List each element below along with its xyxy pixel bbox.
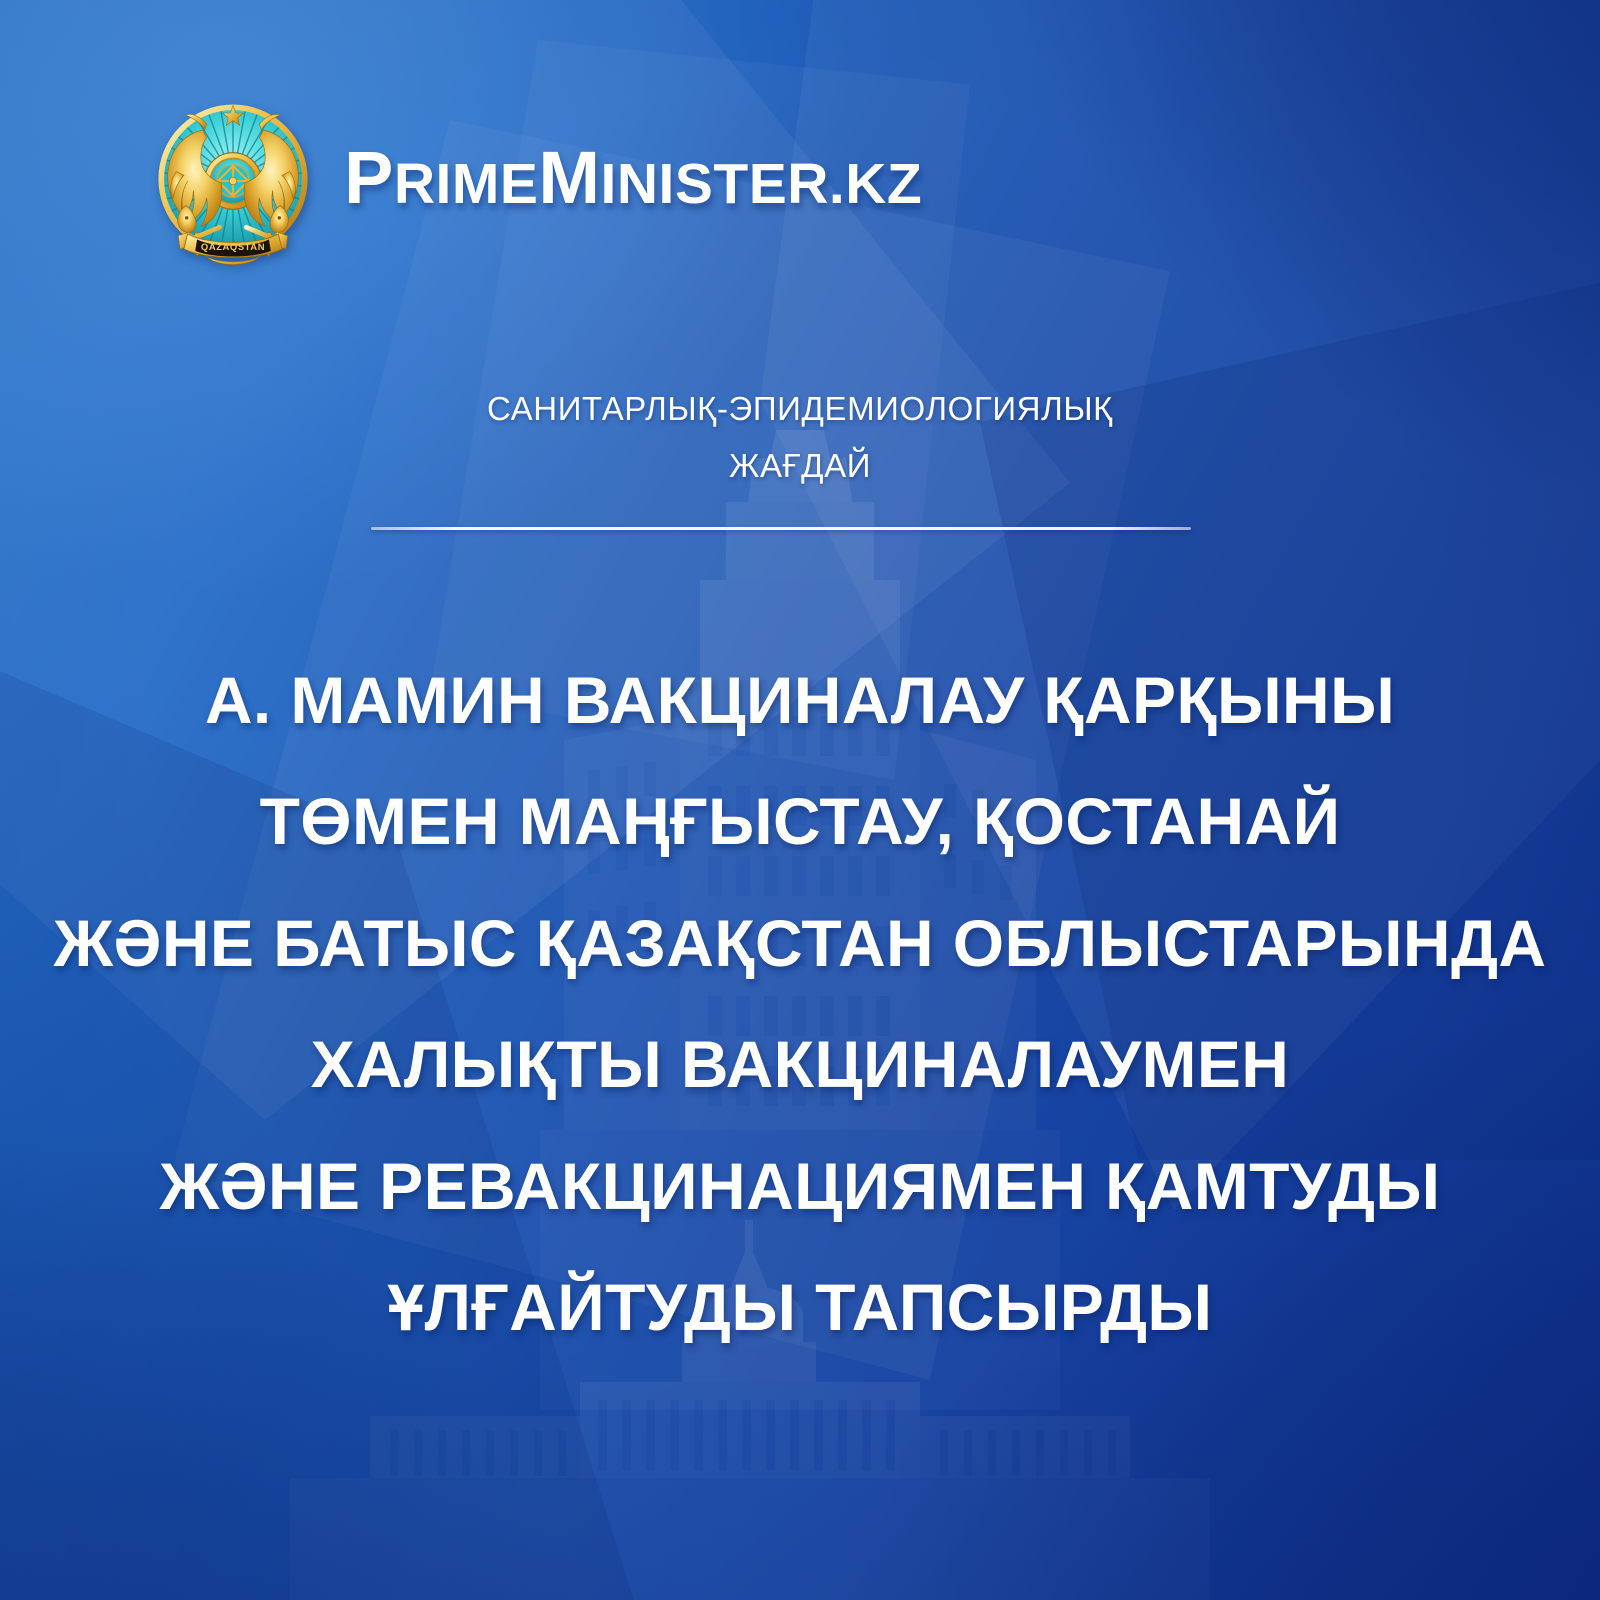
section-subtitle: САНИТАРЛЫҚ-ЭПИДЕМИОЛОГИЯЛЫҚ ЖАҒДАЙ	[0, 381, 1600, 495]
site-wordmark[interactable]: PRIMEMINISTER.KZ	[344, 141, 922, 221]
brand-lockup[interactable]: QAZAQSTAN PRIMEMINISTER.KZ	[148, 92, 922, 270]
wordmark-inister: INISTER	[601, 152, 829, 216]
emblem-ribbon-label: QAZAQSTAN	[201, 242, 265, 253]
headline-line-2: ТӨМЕН МАҢҒЫСТАУ, ҚОСТАНАЙ	[50, 761, 1550, 882]
header-divider	[371, 527, 1191, 530]
headline-line-4: ХАЛЫҚТЫ ВАКЦИНАЛАУМЕН	[50, 1004, 1550, 1125]
wordmark-p: P	[344, 136, 394, 219]
wordmark-m: M	[538, 136, 600, 219]
social-card-poster: QAZAQSTAN PRIMEMINISTER.KZ САНИТАРЛЫҚ-ЭП…	[0, 0, 1600, 1600]
page-title: А. МАМИН ВАКЦИНАЛАУ ҚАРҚЫНЫ ТӨМЕН МАҢҒЫС…	[50, 640, 1550, 1369]
headline-line-3: ЖӘНЕ БАТЫС ҚАЗАҚСТАН ОБЛЫСТАРЫНДА	[50, 883, 1550, 1004]
wordmark-rime: RIME	[394, 152, 539, 216]
subtitle-line-2: ЖАҒДАЙ	[0, 438, 1600, 495]
kazakhstan-coat-of-arms-icon: QAZAQSTAN	[148, 92, 318, 270]
headline-line-1: А. МАМИН ВАКЦИНАЛАУ ҚАРҚЫНЫ	[50, 640, 1550, 761]
wordmark-kz: .KZ	[829, 152, 922, 216]
subtitle-line-1: САНИТАРЛЫҚ-ЭПИДЕМИОЛОГИЯЛЫҚ	[0, 381, 1600, 438]
headline-line-6: ҰЛҒАЙТУДЫ ТАПСЫРДЫ	[50, 1247, 1550, 1368]
headline-line-5: ЖӘНЕ РЕВАКЦИНАЦИЯМЕН ҚАМТУДЫ	[50, 1126, 1550, 1247]
